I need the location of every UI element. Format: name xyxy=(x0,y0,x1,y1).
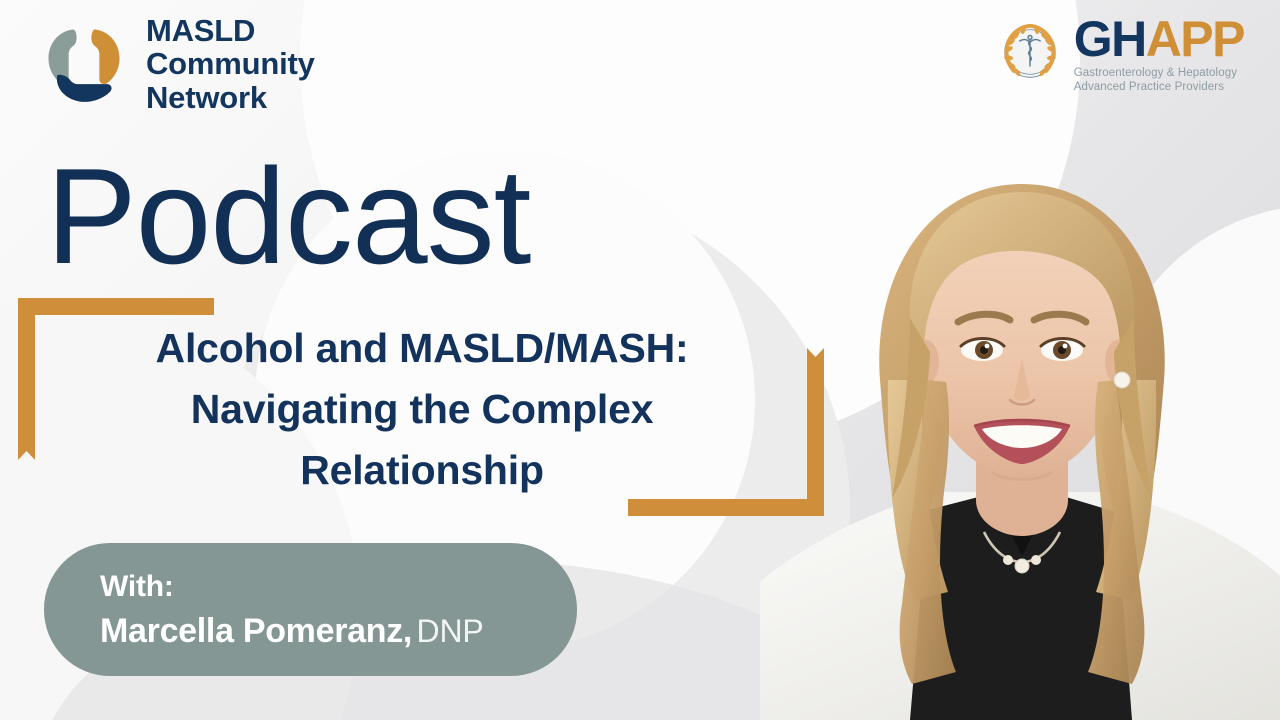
masld-logo: MASLD Community Network xyxy=(36,14,315,114)
caduceus-laurel-seal-icon xyxy=(996,18,1064,86)
ghapp-wordmark-app: APP xyxy=(1146,11,1244,67)
speaker-credential: DNP xyxy=(417,613,484,649)
speaker-portrait-image xyxy=(760,80,1280,720)
page-title: Podcast xyxy=(46,148,530,284)
speaker-name: Marcella Pomeranz, xyxy=(100,612,412,650)
ghapp-wordmark: GHAPP xyxy=(1074,16,1244,64)
podcast-cover-slide: MASLD Community Network xyxy=(0,0,1280,720)
speaker-with-label: With: xyxy=(100,568,577,606)
masld-wordmark: MASLD Community Network xyxy=(146,14,315,114)
three-hands-circle-icon xyxy=(36,16,132,112)
episode-title: Alcohol and MASLD/MASH: Navigating the C… xyxy=(52,318,792,501)
ghapp-wordmark-gh: GH xyxy=(1074,11,1146,67)
speaker-badge: With: Marcella Pomeranz, DNP xyxy=(44,543,577,676)
speaker-name-row: Marcella Pomeranz, DNP xyxy=(100,612,577,651)
speaker-portrait xyxy=(760,80,1280,720)
